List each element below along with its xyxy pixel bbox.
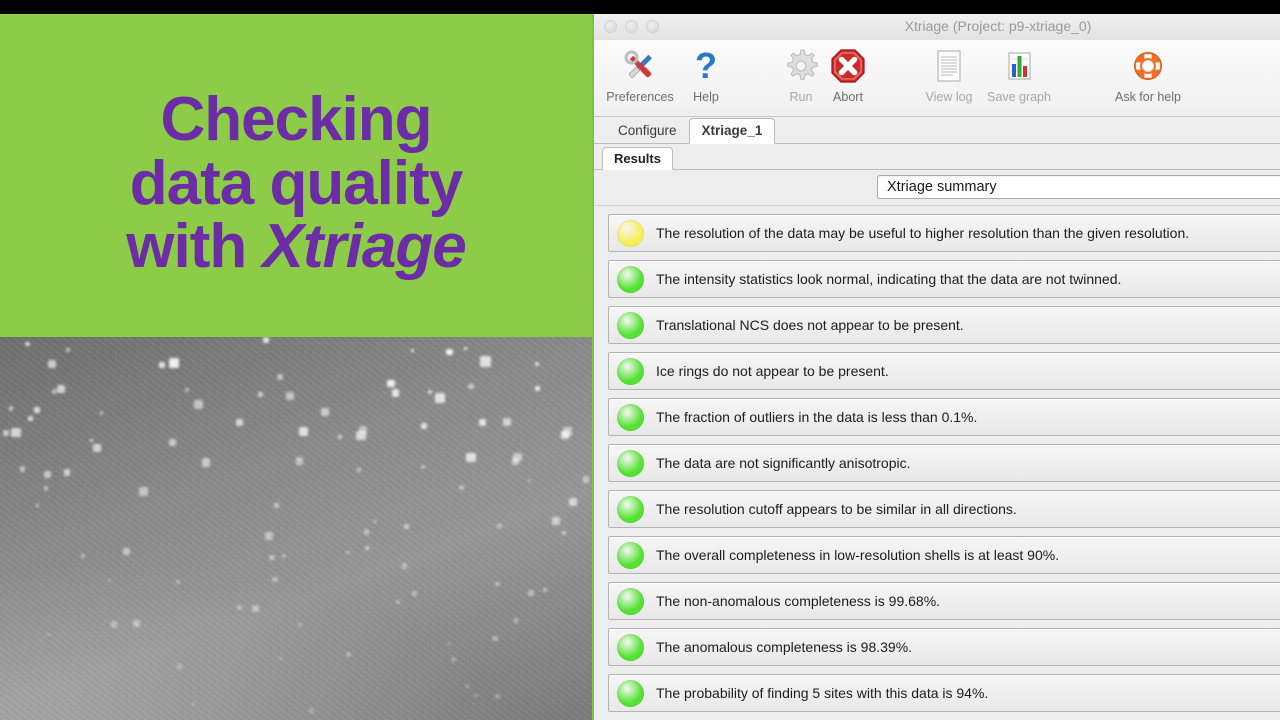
diffraction-spot [321, 408, 328, 415]
diffraction-spot [396, 600, 400, 604]
diffraction-spot [236, 419, 244, 427]
diffraction-spot [465, 684, 469, 688]
result-row[interactable]: The probability of finding 5 sites with … [608, 674, 1280, 712]
diffraction-spot [480, 356, 491, 367]
diffraction-spot [286, 392, 294, 400]
diffraction-spot [66, 348, 70, 352]
status-light-green-icon [617, 634, 644, 661]
diffraction-spot [357, 468, 361, 472]
diffraction-spot [100, 411, 104, 415]
selector-row: Xtriage summary [594, 170, 1280, 206]
diffraction-spot [133, 620, 140, 627]
diffraction-spot [93, 444, 101, 452]
diffraction-spot [185, 388, 189, 392]
diffraction-spot [25, 342, 30, 347]
status-light-green-icon [617, 358, 644, 385]
diffraction-spot [202, 458, 211, 467]
diffraction-spot [169, 358, 180, 369]
diffraction-spot [479, 419, 486, 426]
diffraction-spot [123, 548, 130, 555]
diffraction-spot [176, 580, 181, 585]
result-row[interactable]: The data are not significantly anisotrop… [608, 444, 1280, 482]
diffraction-spot [421, 465, 425, 469]
result-row[interactable]: The resolution cutoff appears to be simi… [608, 490, 1280, 528]
result-row[interactable]: Ice rings do not appear to be present. [608, 352, 1280, 390]
status-light-green-icon [617, 588, 644, 615]
diffraction-spot [492, 636, 497, 641]
result-row[interactable]: Translational NCS does not appear to be … [608, 306, 1280, 344]
diffraction-spot [48, 360, 56, 368]
diffraction-spot [528, 590, 534, 596]
result-message: The non-anomalous completeness is 99.68%… [656, 593, 940, 609]
diffraction-spot [428, 390, 432, 394]
diffraction-spot [111, 621, 117, 627]
diffraction-spot [497, 524, 502, 529]
diffraction-spot [421, 423, 427, 429]
diffraction-spot [459, 485, 464, 490]
result-message: The resolution of the data may be useful… [656, 225, 1189, 241]
result-message: The data are not significantly anisotrop… [656, 455, 910, 471]
result-row[interactable]: The overall completeness in low-resoluti… [608, 536, 1280, 574]
toolbar: Preferences ? Help [594, 40, 1280, 117]
diffraction-spot [282, 554, 286, 558]
diffraction-spot [562, 531, 566, 535]
diffraction-spot [535, 386, 540, 391]
diffraction-spots [0, 337, 592, 720]
result-message: The intensity statistics look normal, in… [656, 271, 1121, 287]
toolbar-label-abort: Abort [806, 90, 890, 104]
toolbar-label-ask-for-help: Ask for help [1106, 90, 1190, 104]
toolbar-button-help[interactable]: ? Help [664, 44, 748, 104]
tab-xtriage-1[interactable]: Xtriage_1 [689, 118, 776, 144]
xtriage-application-window: Xtriage (Project: p9-xtriage_0) [592, 14, 1280, 720]
diffraction-spot [513, 453, 522, 462]
toolbar-label-help: Help [664, 90, 748, 104]
slide-title-line-2: data quality [130, 152, 463, 216]
diffraction-spot [265, 532, 273, 540]
slide-title-line-3-text: with [126, 212, 262, 281]
sub-tab-strip: Results [594, 144, 1280, 170]
diffraction-spot [269, 555, 275, 561]
diffraction-spot [272, 577, 277, 582]
toolbar-button-abort[interactable]: Abort [806, 44, 890, 104]
x-ray-diffraction-image [0, 337, 592, 720]
diffraction-spot [543, 588, 547, 592]
diffraction-spot [64, 469, 71, 476]
diffraction-spot [299, 427, 308, 436]
diffraction-spot [3, 430, 9, 436]
result-message: The probability of finding 5 sites with … [656, 685, 988, 701]
diffraction-spot [552, 517, 560, 525]
diffraction-spot [466, 453, 476, 463]
slide-title-line-3: with Xtriage [126, 215, 465, 279]
diffraction-spot [435, 393, 445, 403]
bar-chart-icon [977, 44, 1061, 88]
diffraction-spot [108, 579, 111, 582]
status-light-green-icon [617, 680, 644, 707]
diffraction-spot [528, 479, 531, 482]
diffraction-spot [159, 362, 165, 368]
diffraction-spot [373, 520, 376, 523]
presentation-slide: Checking data quality with Xtriage [0, 14, 592, 720]
status-light-green-icon [617, 312, 644, 339]
diffraction-spot [535, 362, 539, 366]
result-row[interactable]: The fraction of outliers in the data is … [608, 398, 1280, 436]
screen: Checking data quality with Xtriage Xtria… [0, 0, 1280, 720]
diffraction-spot [28, 416, 33, 421]
main-tab-strip: Configure Xtriage_1 [594, 117, 1280, 144]
diffraction-spot [139, 487, 147, 495]
diffraction-spot [258, 392, 263, 397]
diffraction-spot [404, 524, 409, 529]
diffraction-spot [474, 694, 477, 697]
diffraction-spot [44, 471, 51, 478]
diffraction-spot [177, 664, 182, 669]
diffraction-spot [252, 605, 259, 612]
diffraction-spot [412, 591, 417, 596]
lifebuoy-icon [1106, 44, 1190, 88]
diffraction-spot [402, 563, 408, 569]
diffraction-spot [563, 427, 572, 436]
status-light-green-icon [617, 266, 644, 293]
diffraction-spot [583, 476, 590, 483]
results-list: The resolution of the data may be useful… [594, 206, 1280, 720]
diffraction-spot [81, 554, 85, 558]
diffraction-spot [263, 337, 269, 343]
window-title: Xtriage (Project: p9-xtriage_0) [594, 18, 1280, 34]
diffraction-spot [495, 582, 499, 586]
status-light-yellow-icon [617, 220, 644, 247]
svg-text:?: ? [695, 46, 717, 86]
result-row[interactable]: The intensity statistics look normal, in… [608, 260, 1280, 298]
result-message: Ice rings do not appear to be present. [656, 363, 889, 379]
diffraction-spot [309, 708, 314, 713]
status-light-green-icon [617, 496, 644, 523]
diffraction-spot [44, 486, 48, 490]
result-row[interactable]: The non-anomalous completeness is 99.68%… [608, 582, 1280, 620]
diffraction-spot [237, 605, 242, 610]
result-row[interactable]: The resolution of the data may be useful… [608, 214, 1280, 252]
slide-title-emphasis: Xtriage [263, 212, 466, 281]
diffraction-spot [194, 400, 203, 409]
diffraction-spot [296, 457, 304, 465]
question-mark-icon: ? [664, 44, 748, 88]
result-message: The fraction of outliers in the data is … [656, 409, 977, 425]
slide-title-line-1: Checking [160, 88, 431, 152]
diffraction-spot [464, 347, 467, 350]
diffraction-spot [356, 431, 365, 440]
diffraction-spot [411, 349, 414, 352]
slide-title-block: Checking data quality with Xtriage [0, 14, 592, 337]
diffraction-spot [9, 406, 13, 410]
diffraction-spot [274, 503, 279, 508]
toolbar-label-save-graph: Save graph [977, 90, 1061, 104]
diffraction-spot [277, 374, 282, 379]
letterbox-bar-top [0, 0, 1280, 14]
diffraction-spot [169, 439, 177, 447]
result-message: The overall completeness in low-resoluti… [656, 547, 1059, 563]
diffraction-spot [192, 702, 196, 706]
diffraction-spot [52, 389, 57, 394]
diffraction-spot [495, 694, 500, 699]
diffraction-spot [47, 633, 50, 636]
diffraction-spot [34, 407, 40, 413]
stop-octagon-icon [806, 44, 890, 88]
diffraction-spot [57, 385, 65, 393]
diffraction-spot [503, 418, 512, 427]
result-message: The resolution cutoff appears to be simi… [656, 501, 1017, 517]
diffraction-spot [365, 546, 369, 550]
status-light-green-icon [617, 450, 644, 477]
diffraction-spot [387, 380, 394, 387]
diffraction-spot [298, 623, 302, 627]
tab-configure[interactable]: Configure [606, 119, 689, 143]
diffraction-spot [36, 504, 39, 507]
diffraction-spot [451, 657, 456, 662]
diffraction-spot [569, 498, 577, 506]
toolbar-button-ask-for-help[interactable]: Ask for help [1106, 44, 1190, 104]
tab-results[interactable]: Results [602, 147, 673, 170]
diffraction-spot [392, 389, 400, 397]
diffraction-spot [346, 551, 350, 555]
diffraction-spot [90, 439, 93, 442]
result-message: Translational NCS does not appear to be … [656, 317, 964, 333]
diffraction-spot [468, 384, 474, 390]
status-light-green-icon [617, 404, 644, 431]
diffraction-spot [279, 657, 282, 660]
diffraction-spot [346, 652, 351, 657]
diffraction-spot [20, 466, 26, 472]
summary-selector[interactable]: Xtriage summary [877, 175, 1280, 199]
diffraction-spot [447, 642, 451, 646]
diffraction-spot [338, 435, 342, 439]
toolbar-button-save-graph[interactable]: Save graph [977, 44, 1061, 104]
result-row[interactable]: The anomalous completeness is 98.39%. [608, 628, 1280, 666]
diffraction-spot [11, 428, 20, 437]
diffraction-spot [514, 618, 519, 623]
diffraction-spot [446, 349, 453, 356]
diffraction-spot [364, 529, 369, 534]
window-titlebar: Xtriage (Project: p9-xtriage_0) [594, 14, 1280, 40]
status-light-green-icon [617, 542, 644, 569]
result-message: The anomalous completeness is 98.39%. [656, 639, 912, 655]
